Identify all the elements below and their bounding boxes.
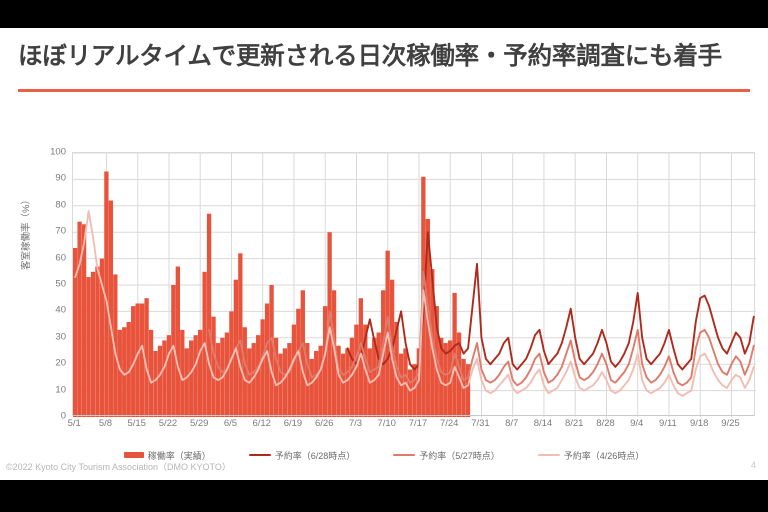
chart-plot-area — [72, 152, 755, 416]
x-axis-tick: 6/12 — [252, 418, 271, 429]
x-axis-tick: 5/1 — [68, 418, 81, 429]
x-axis-tick: 9/18 — [690, 418, 709, 429]
page-number: 4 — [751, 460, 756, 470]
x-axis-tick: 5/22 — [159, 418, 178, 429]
y-axis-tick: 80 — [36, 199, 66, 210]
x-axis-tick: 5/15 — [127, 418, 146, 429]
title-underline-divider — [18, 89, 750, 92]
x-axis-tick: 8/28 — [596, 418, 615, 429]
y-axis-tick: 20 — [36, 358, 66, 369]
x-axis-tick-labels: 5/15/85/155/225/296/56/126/196/267/37/10… — [72, 418, 755, 436]
chart-canvas — [73, 153, 756, 417]
y-axis-tick: 100 — [36, 147, 66, 158]
bar-series — [73, 171, 470, 417]
x-axis-tick: 8/21 — [565, 418, 584, 429]
slide-title-bar: ほぼリアルタイムで更新される日次稼働率・予約率調査にも着手 — [18, 40, 750, 88]
y-axis-tick: 50 — [36, 279, 66, 290]
x-axis-tick: 7/17 — [409, 418, 428, 429]
y-axis-tick: 0 — [36, 411, 66, 422]
x-axis-tick: 7/10 — [377, 418, 396, 429]
y-axis-tick: 70 — [36, 226, 66, 237]
x-axis-tick: 9/4 — [630, 418, 643, 429]
x-axis-tick: 5/8 — [99, 418, 112, 429]
slide: ほぼリアルタイムで更新される日次稼働率・予約率調査にも着手 0102030405… — [0, 28, 768, 480]
y-axis-tick-labels: 0102030405060708090100 — [0, 152, 72, 416]
x-axis-tick: 7/3 — [349, 418, 362, 429]
x-axis-tick: 6/19 — [284, 418, 303, 429]
x-axis-tick: 5/29 — [190, 418, 209, 429]
x-axis-tick: 6/5 — [224, 418, 237, 429]
x-axis-tick: 7/24 — [440, 418, 459, 429]
x-axis-tick: 9/25 — [721, 418, 740, 429]
slide-footer: ©2022 Kyoto City Tourism Association（DMO… — [0, 454, 768, 480]
x-axis-tick: 6/26 — [315, 418, 334, 429]
line-series — [348, 232, 754, 369]
x-axis-baseline — [73, 415, 754, 416]
y-axis-tick: 90 — [36, 173, 66, 184]
copyright-text: ©2022 Kyoto City Tourism Association（DMO… — [6, 460, 231, 473]
occupancy-forecast-chart: 0102030405060708090100 客室稼働率（%） 5/15/85/… — [0, 120, 768, 440]
y-axis-tick: 60 — [36, 252, 66, 263]
x-axis-tick: 9/11 — [659, 418, 677, 429]
page-title: ほぼリアルタイムで更新される日次稼働率・予約率調査にも着手 — [18, 40, 750, 74]
y-axis-tick: 10 — [36, 384, 66, 395]
x-axis-tick: 8/7 — [505, 418, 518, 429]
y-axis-tick: 40 — [36, 305, 66, 316]
y-axis-tick: 30 — [36, 331, 66, 342]
x-axis-tick: 8/14 — [534, 418, 553, 429]
y-axis-title: 客室稼働率（%） — [18, 195, 32, 270]
x-axis-tick: 7/31 — [471, 418, 490, 429]
